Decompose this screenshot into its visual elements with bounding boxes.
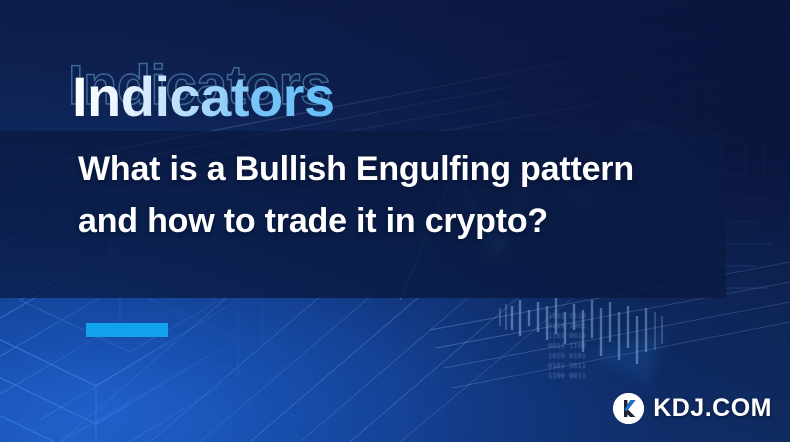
logo-text: KDJ.COM	[653, 396, 772, 421]
accent-bar	[86, 323, 168, 337]
site-logo[interactable]: KDJ.COM	[613, 393, 772, 424]
kicker-title-group: Indicators Indicators	[72, 62, 335, 132]
kdj-logo-mark-icon	[613, 393, 644, 424]
kicker-title: Indicators	[72, 62, 335, 132]
banner-graphic: 0110 10011011 0100 0101 11011100 0110 00…	[0, 0, 790, 442]
headline-text: What is a Bullish Engulfing pattern and …	[78, 143, 678, 247]
